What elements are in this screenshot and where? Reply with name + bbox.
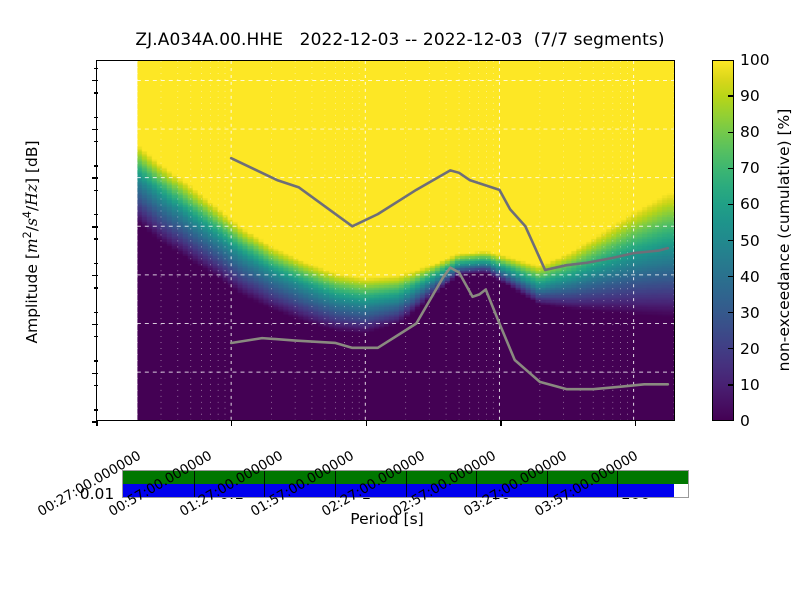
y-minor-tick (94, 92, 98, 93)
colorbar-tick-mark (728, 132, 734, 133)
y-tick-mark (92, 324, 98, 325)
y-tick-mark (92, 373, 98, 374)
x-tick-mark (635, 420, 636, 426)
colorbar-tick-label: 100 (740, 51, 770, 69)
x-tick-mark (500, 420, 501, 426)
y-minor-tick (94, 287, 98, 288)
colorbar-tick-label: 80 (740, 123, 760, 141)
colorbar-tick-mark (728, 168, 734, 169)
y-minor-tick (94, 238, 98, 239)
colorbar-tick-label: 70 (740, 159, 760, 177)
y-minor-tick (94, 141, 98, 142)
x-axis-label: Period [s] (350, 510, 423, 528)
colorbar-tick-mark (728, 95, 734, 96)
colorbar-tick-mark (728, 204, 734, 205)
colorbar-tick-label: 90 (740, 87, 760, 105)
y-minor-tick (94, 68, 98, 69)
coverage-segment-divider (547, 471, 548, 497)
colorbar-tick-label: 20 (740, 340, 760, 358)
colorbar-tick-mark (728, 276, 734, 277)
y-tick-mark (92, 177, 98, 178)
x-tick-mark (231, 420, 232, 426)
y-tick-mark (92, 275, 98, 276)
colorbar-tick-label: 50 (740, 232, 760, 250)
y-minor-tick (94, 409, 98, 410)
colorbar-tick-mark (728, 240, 734, 241)
x-tick-mark (366, 420, 367, 426)
y-minor-tick (94, 190, 98, 191)
y-tick-mark (92, 80, 98, 81)
colorbar-tick-label: 10 (740, 376, 760, 394)
y-minor-tick (94, 312, 98, 313)
coverage-segment-divider (335, 471, 336, 497)
colorbar-tick-label: 30 (740, 304, 760, 322)
colorbar-label: non-exceedance (cumulative) [%] (775, 109, 793, 372)
y-minor-tick (94, 263, 98, 264)
colorbar-tick-label: 40 (740, 268, 760, 286)
coverage-segment-divider (264, 471, 265, 497)
y-axis-label: Amplitude [m2/s4/Hz] [dB] (21, 141, 41, 344)
figure-title: ZJ.A034A.00.HHE 2022-12-03 -- 2022-12-03… (0, 30, 800, 50)
colorbar-tick-label: 60 (740, 195, 760, 213)
colorbar-tick-mark (728, 384, 734, 385)
y-minor-tick (94, 165, 98, 166)
coverage-segment-divider (406, 471, 407, 497)
y-tick-mark (92, 226, 98, 227)
colorbar-tick-label: 0 (740, 412, 750, 430)
y-minor-tick (94, 117, 98, 118)
y-minor-tick (94, 336, 98, 337)
y-tick-mark (92, 129, 98, 130)
x-tick-mark (96, 420, 97, 426)
colorbar-tick-mark (728, 348, 734, 349)
y-minor-tick (94, 214, 98, 215)
psd-axes[interactable]: Amplitude [m2/s4/Hz] [dB] Period [s] −60… (96, 60, 675, 421)
colorbar-tick-mark (728, 312, 734, 313)
psd-plot-area (97, 61, 674, 420)
y-minor-tick (94, 360, 98, 361)
ppsd-figure: ZJ.A034A.00.HHE 2022-12-03 -- 2022-12-03… (0, 0, 800, 600)
y-minor-tick (94, 385, 98, 386)
coverage-segment-divider (476, 471, 477, 497)
coverage-segment-divider (194, 471, 195, 497)
ppsd-density-image (97, 61, 674, 420)
